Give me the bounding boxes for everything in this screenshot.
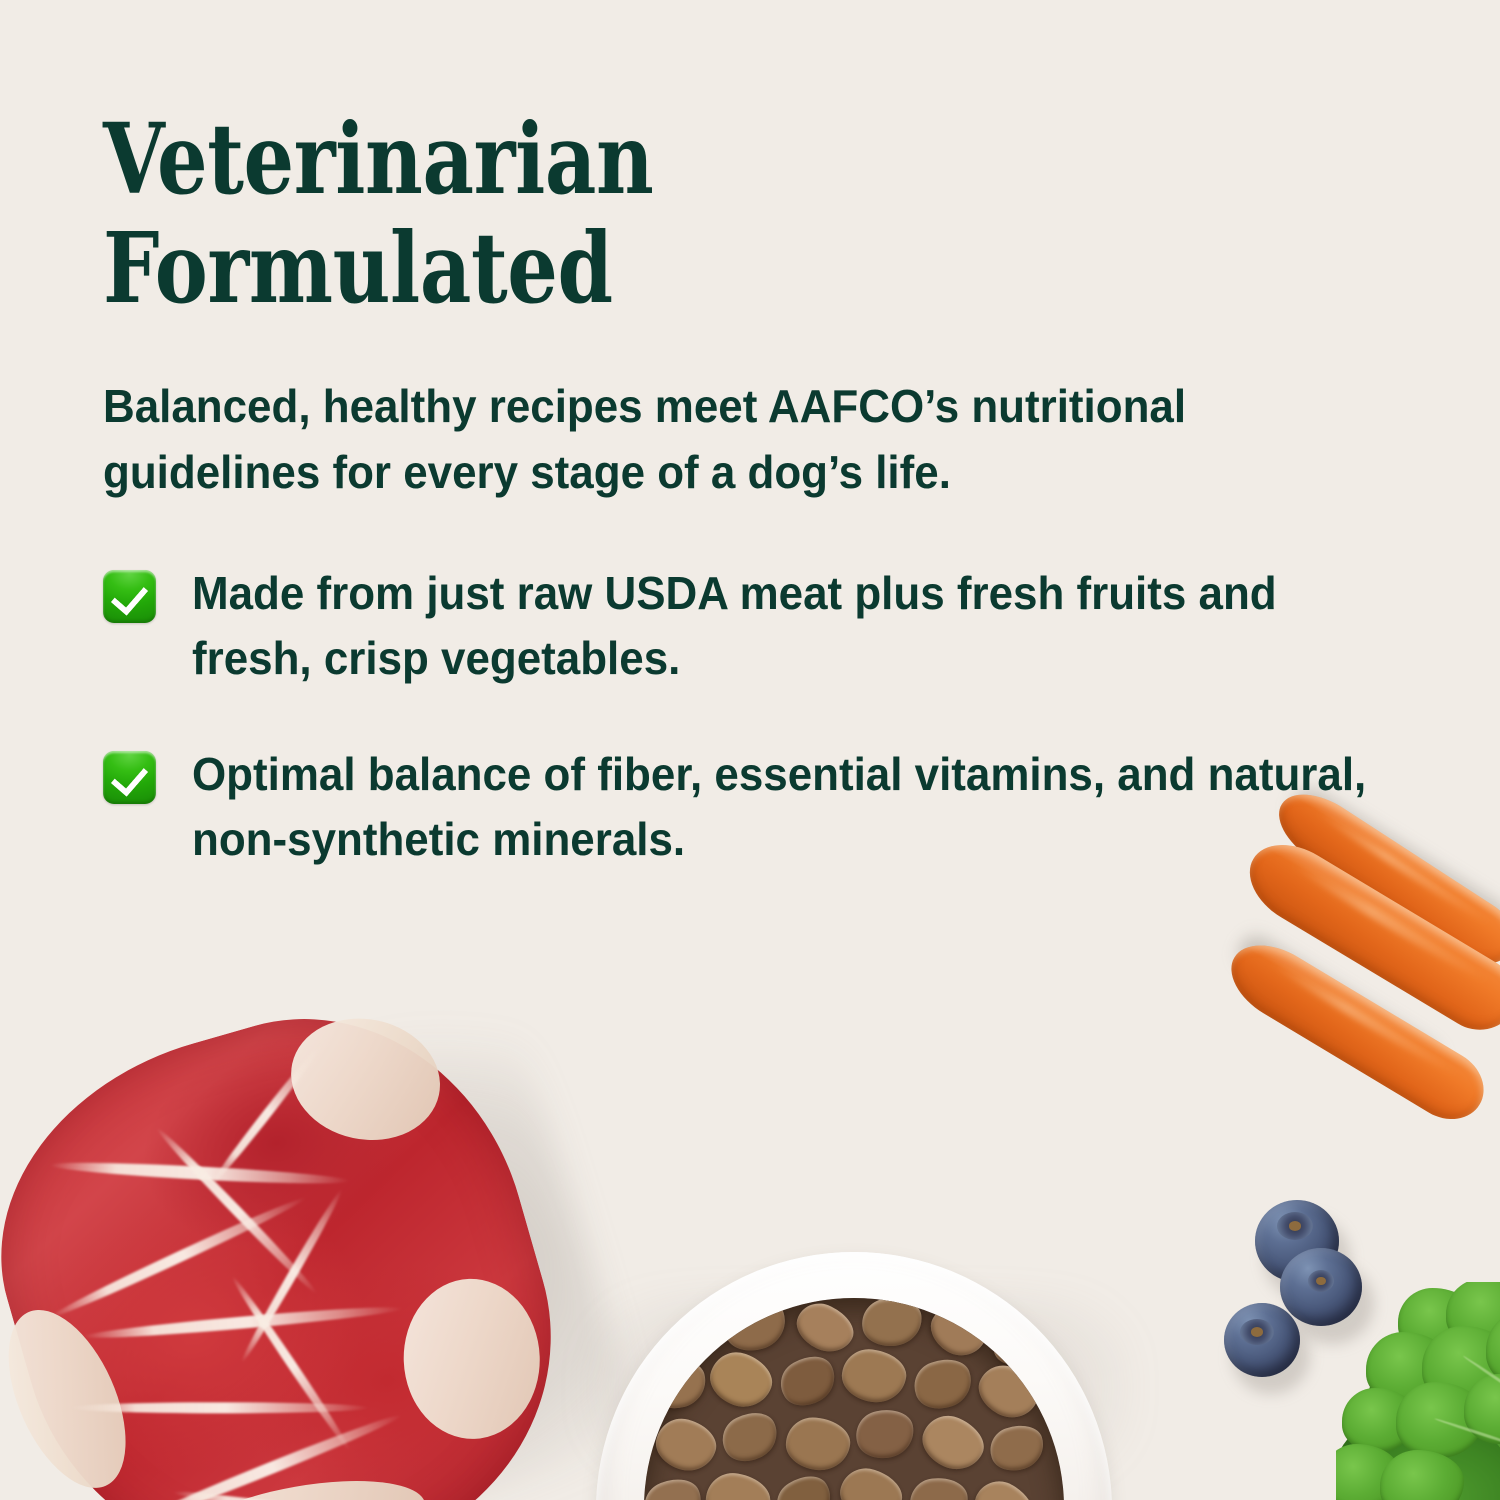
- raw-steak: [0, 969, 602, 1500]
- benefit-list: Made from just raw USDA meat plus fresh …: [103, 561, 1433, 872]
- green-check-icon: [103, 751, 156, 804]
- kibble-fill: [644, 1298, 1064, 1500]
- steak-shadow: [13, 999, 648, 1500]
- page-title: Veterinarian Formulated: [103, 105, 1194, 322]
- kale-leaf: [1336, 1282, 1500, 1500]
- carrot-3: [1217, 929, 1496, 1133]
- blueberry-3: [1224, 1303, 1300, 1377]
- list-item-label: Made from just raw USDA meat plus fresh …: [192, 561, 1377, 692]
- green-check-icon: [103, 570, 156, 623]
- bowl-shadow: [590, 1300, 1130, 1500]
- subheading-text: Balanced, healthy recipes meet AAFCO’s n…: [103, 374, 1373, 505]
- copy-block: Veterinarian Formulated Balanced, health…: [103, 105, 1433, 922]
- product-feature-image: Veterinarian Formulated Balanced, health…: [0, 0, 1500, 1500]
- blueberry-1: [1255, 1200, 1339, 1282]
- list-item: Made from just raw USDA meat plus fresh …: [103, 561, 1433, 692]
- blueberry-2: [1280, 1248, 1362, 1326]
- list-item-label: Optimal balance of fiber, essential vita…: [192, 742, 1377, 873]
- dog-food-bowl: [596, 1252, 1112, 1500]
- list-item: Optimal balance of fiber, essential vita…: [103, 742, 1433, 873]
